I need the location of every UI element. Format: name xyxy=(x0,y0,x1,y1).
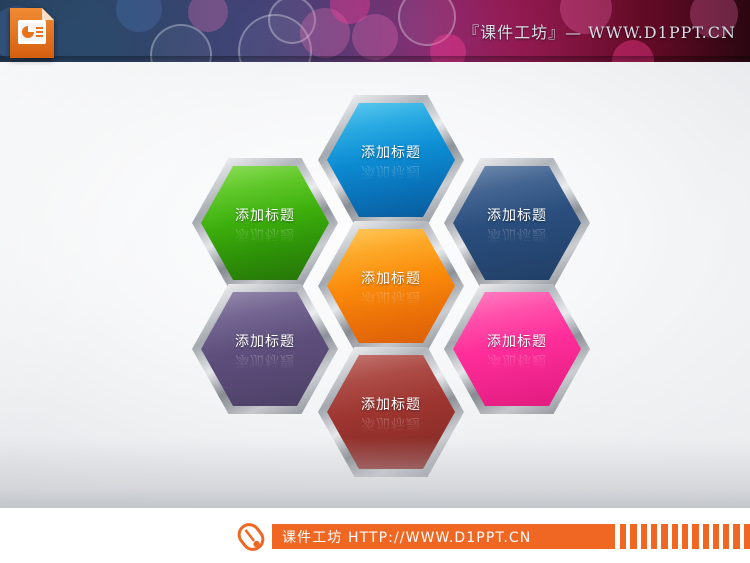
hexagon-center[interactable]: 添加标题 添加标题 xyxy=(318,221,464,351)
hexagon-label-reflection: 添加标题 xyxy=(487,351,547,371)
hexagon-label-group: 添加标题 添加标题 xyxy=(361,268,421,308)
hexagon-label: 添加标题 xyxy=(235,331,295,351)
hexagon-label-group: 添加标题 添加标题 xyxy=(361,142,421,182)
hexagon-label: 添加标题 xyxy=(361,268,421,288)
pen-icon xyxy=(231,519,271,555)
footer-stripes xyxy=(620,524,750,549)
powerpoint-document-icon xyxy=(8,6,56,60)
header-banner: 『课件工坊』— WWW.D1PPT.CN xyxy=(0,0,750,62)
hexagon-label-reflection: 添加标题 xyxy=(361,414,421,434)
hexagon-label-group: 添加标题 添加标题 xyxy=(235,331,295,371)
header-brand-text: 『课件工坊』— WWW.D1PPT.CN xyxy=(463,0,736,62)
hexagon-label-reflection: 添加标题 xyxy=(361,288,421,308)
hexagon-label-group: 添加标题 添加标题 xyxy=(487,205,547,245)
hexagon-label-group: 添加标题 添加标题 xyxy=(487,331,547,371)
hexagon-label: 添加标题 xyxy=(361,142,421,162)
footer-brand-text: 课件工坊 HTTP://WWW.D1PPT.CN xyxy=(272,527,531,547)
hexagon-diagram: 添加标题 添加标题 添加标题 添加标题 添加标题 xyxy=(0,62,750,508)
hexagon-label: 添加标题 xyxy=(487,331,547,351)
hexagon-label-reflection: 添加标题 xyxy=(361,162,421,182)
hexagon-top[interactable]: 添加标题 添加标题 xyxy=(318,95,464,225)
footer-brand-bar: 课件工坊 HTTP://WWW.D1PPT.CN xyxy=(272,524,615,549)
slide-preview: 『课件工坊』— WWW.D1PPT.CN xyxy=(0,0,750,563)
hexagon-label: 添加标题 xyxy=(487,205,547,225)
hexagon-label: 添加标题 xyxy=(235,205,295,225)
hexagon-label-group: 添加标题 添加标题 xyxy=(361,394,421,434)
footer-bar: 课件工坊 HTTP://WWW.D1PPT.CN xyxy=(0,508,750,563)
hexagon-label-reflection: 添加标题 xyxy=(235,351,295,371)
hexagon-lower-right[interactable]: 添加标题 添加标题 xyxy=(444,284,590,414)
hexagon-lower-left[interactable]: 添加标题 添加标题 xyxy=(192,284,338,414)
hexagon-label-reflection: 添加标题 xyxy=(235,225,295,245)
hexagon-upper-right[interactable]: 添加标题 添加标题 xyxy=(444,158,590,288)
hexagon-label: 添加标题 xyxy=(361,394,421,414)
slide-canvas: 添加标题 添加标题 添加标题 添加标题 添加标题 xyxy=(0,62,750,508)
hexagon-bottom[interactable]: 添加标题 添加标题 xyxy=(318,347,464,477)
hexagon-label-reflection: 添加标题 xyxy=(487,225,547,245)
hexagon-upper-left[interactable]: 添加标题 添加标题 xyxy=(192,158,338,288)
hexagon-label-group: 添加标题 添加标题 xyxy=(235,205,295,245)
